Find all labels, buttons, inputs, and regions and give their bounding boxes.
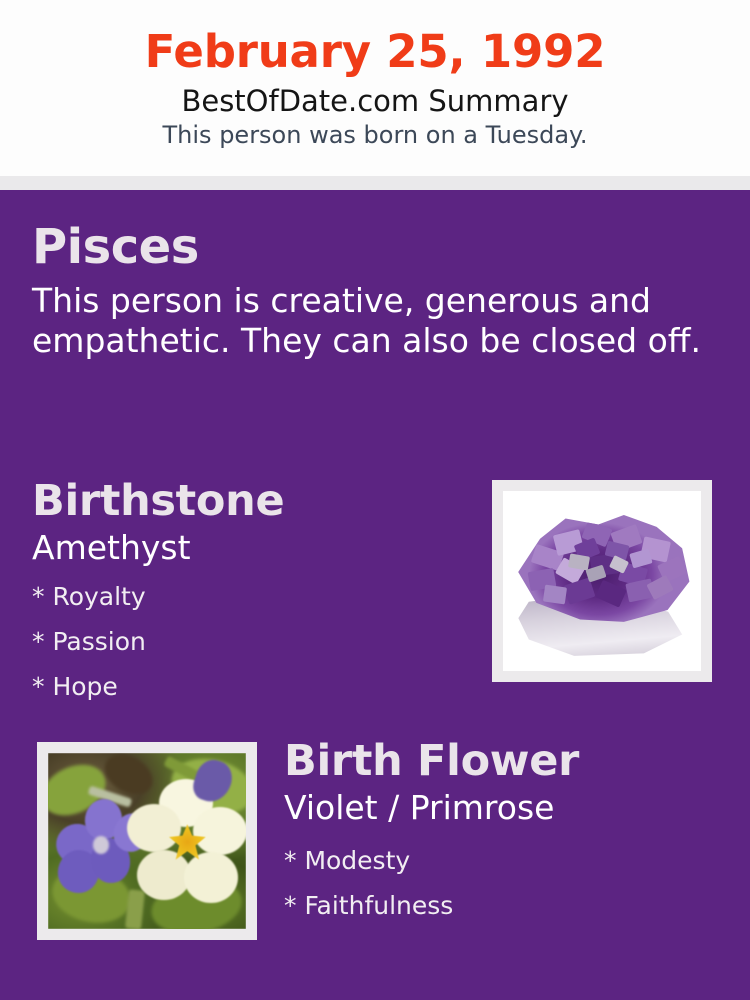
list-item: * Royalty	[32, 574, 462, 619]
birthstone-photo-frame	[492, 480, 712, 682]
weekday-statement: This person was born on a Tuesday.	[0, 119, 750, 150]
birthstone-name: Amethyst	[32, 527, 462, 568]
flower-illustration	[48, 753, 246, 929]
page-title-date: February 25, 1992	[0, 0, 750, 80]
summary-card: February 25, 1992 BestOfDate.com Summary…	[0, 0, 750, 1000]
list-item: * Modesty	[284, 838, 724, 883]
site-name: BestOfDate.com Summary	[0, 80, 750, 119]
zodiac-sign-name: Pisces	[32, 218, 712, 276]
birth-flower-trait-list: * Modesty * Faithfulness	[284, 828, 724, 928]
birthstone-title: Birthstone	[32, 475, 462, 527]
card-header: February 25, 1992 BestOfDate.com Summary…	[0, 0, 750, 176]
birth-flower-name: Violet / Primrose	[284, 787, 724, 828]
amethyst-illustration	[503, 491, 701, 671]
zodiac-description: This person is creative, generous and em…	[32, 276, 704, 361]
birth-flower-photo	[48, 753, 246, 929]
zodiac-section: Pisces This person is creative, generous…	[32, 218, 712, 361]
header-divider	[0, 176, 750, 190]
list-item: * Passion	[32, 619, 462, 664]
primrose-flower	[127, 781, 246, 908]
birth-flower-photo-frame	[37, 742, 257, 940]
list-item: * Hope	[32, 664, 462, 709]
list-item: * Faithfulness	[284, 883, 724, 928]
birthstone-trait-list: * Royalty * Passion * Hope	[32, 568, 462, 709]
birthstone-section: Birthstone Amethyst * Royalty * Passion …	[32, 475, 462, 709]
birth-flower-section: Birth Flower Violet / Primrose * Modesty…	[284, 735, 724, 928]
birth-flower-title: Birth Flower	[284, 735, 724, 787]
birthstone-photo	[503, 491, 701, 671]
